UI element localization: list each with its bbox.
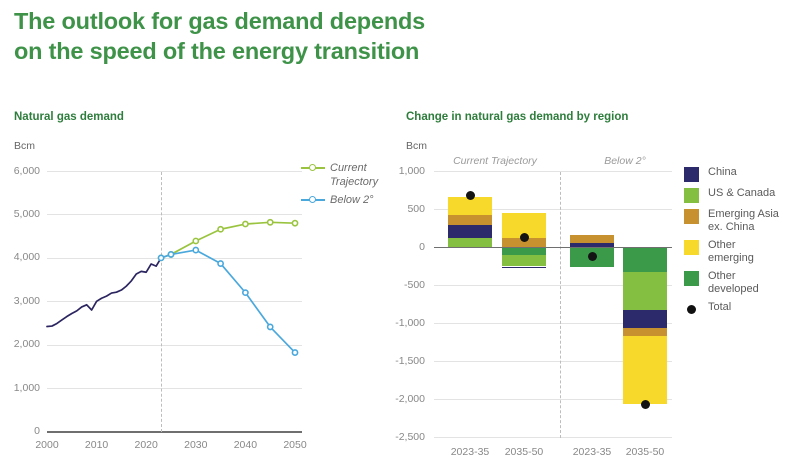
- legend-color-swatch: [684, 271, 699, 286]
- bar-segment[interactable]: [623, 328, 667, 336]
- bar-segment[interactable]: [570, 235, 614, 243]
- y-axis-tick-label: 1,000: [378, 165, 425, 177]
- bar-segment[interactable]: [448, 215, 492, 225]
- legend-label-line2: developed: [708, 283, 759, 295]
- bar-segment[interactable]: [502, 255, 546, 266]
- legend-item-total[interactable]: Total: [684, 301, 800, 316]
- x-axis-tick-label: 2035-50: [489, 446, 559, 458]
- bar-segment[interactable]: [502, 267, 546, 269]
- legend-item-other[interactable]: Otherdeveloped: [684, 270, 800, 295]
- legend-item-china[interactable]: China: [684, 166, 800, 181]
- y-axis-tick-label: -2,000: [378, 393, 425, 405]
- y-axis-tick-label: -1,000: [378, 317, 425, 329]
- total-marker-dot: [641, 400, 650, 409]
- total-marker-dot: [466, 191, 475, 200]
- legend-color-swatch: [684, 209, 699, 224]
- legend-label: Otherdeveloped: [708, 270, 800, 295]
- legend-item-us-canada[interactable]: US & Canada: [684, 187, 800, 202]
- gridline: [434, 437, 672, 438]
- y-axis-tick-label: 500: [378, 203, 425, 215]
- bar-segment[interactable]: [448, 225, 492, 238]
- legend-label: Otheremerging: [708, 239, 800, 264]
- y-axis-tick-label: 0: [378, 241, 425, 253]
- scenario-divider: [560, 172, 561, 438]
- y-axis-tick-label: -500: [378, 279, 425, 291]
- legend-color-swatch: [684, 188, 699, 203]
- bar-chart-legend: ChinaUS & CanadaEmerging Asiaex. ChinaOt…: [684, 166, 800, 322]
- legend-label: Total: [708, 301, 800, 314]
- zero-axis-line: [434, 247, 672, 249]
- legend-label: Emerging Asiaex. China: [708, 208, 800, 233]
- gridline: [434, 171, 672, 172]
- total-marker-dot: [520, 233, 529, 242]
- legend-label-line2: emerging: [708, 252, 754, 264]
- y-axis-tick-label: -1,500: [378, 355, 425, 367]
- legend-item-emerging-asia[interactable]: Emerging Asiaex. China: [684, 208, 800, 233]
- legend-item-other[interactable]: Otheremerging: [684, 239, 800, 264]
- bar-segment[interactable]: [623, 272, 667, 310]
- legend-label: US & Canada: [708, 187, 800, 200]
- bar-segment[interactable]: [623, 248, 667, 272]
- infographic-page: The outlook for gas demand depends on th…: [0, 0, 800, 474]
- bar-segment[interactable]: [502, 248, 546, 256]
- y-axis-tick-label: -2,500: [378, 431, 425, 443]
- legend-label-line2: ex. China: [708, 221, 754, 233]
- legend-color-swatch: [684, 167, 699, 182]
- total-marker-dot: [588, 252, 597, 261]
- legend-color-swatch: [684, 240, 699, 255]
- x-axis-tick-label: 2035-50: [610, 446, 680, 458]
- bar-segment[interactable]: [623, 336, 667, 404]
- legend-total-dot-icon: [687, 305, 696, 314]
- legend-label: China: [708, 166, 800, 179]
- bar-segment[interactable]: [623, 310, 667, 328]
- bar-chart: 1,0005000-500-1,000-1,500-2,000-2,500202…: [0, 0, 700, 474]
